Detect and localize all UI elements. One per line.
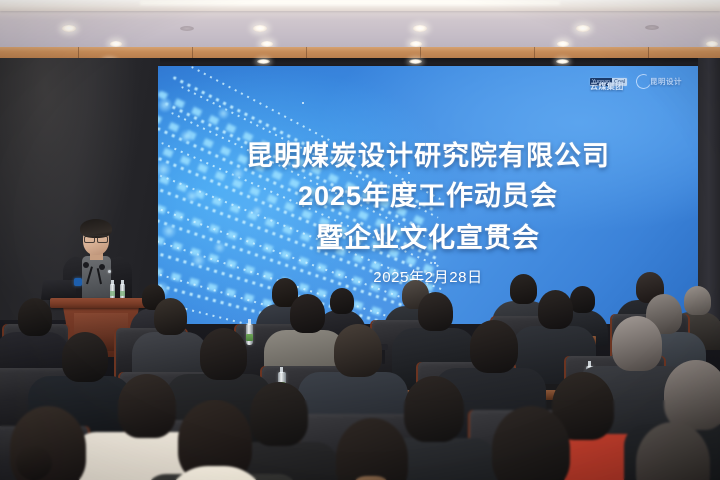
soffit-light-strip — [140, 0, 560, 5]
audience-hair — [510, 274, 537, 304]
ceiling-downlight — [257, 59, 270, 64]
audience-hair — [334, 324, 382, 377]
audience-hair — [404, 376, 464, 442]
audience-hair — [570, 286, 595, 313]
water-bottle — [246, 324, 253, 345]
audience-hair-bun — [16, 446, 52, 480]
conference-photo: Yunnan Coal 云煤集团 昆明设计 昆明煤炭设计研究院有限公司 2025… — [0, 0, 720, 480]
ceiling-downlight — [645, 25, 659, 30]
ceiling-downlight — [413, 25, 427, 32]
ceiling-downlight — [556, 59, 569, 64]
desk-microphone — [382, 348, 385, 364]
speaker-glasses — [84, 235, 108, 242]
audience-hair — [62, 332, 108, 382]
audience-hair — [418, 292, 453, 331]
audience-hair — [250, 382, 308, 446]
slide-headline-line2: 2025年度工作动员会 — [158, 174, 698, 213]
ceiling-downlight — [253, 25, 267, 32]
audience-hair — [664, 360, 720, 430]
audience-hair — [612, 316, 662, 371]
audience-hair — [330, 288, 354, 314]
seated-audience — [0, 250, 720, 480]
audience-hair-tie — [354, 476, 388, 480]
audience-hair — [684, 286, 711, 315]
ceiling-downlight — [576, 25, 590, 32]
ceiling — [0, 0, 720, 48]
audience-hair — [470, 320, 518, 373]
audience-hair — [154, 298, 187, 335]
ceiling-downlight — [62, 25, 76, 32]
audience-hair — [538, 290, 573, 329]
audience-hair — [118, 374, 176, 438]
audience-hair — [200, 328, 247, 380]
ceiling-downlight — [180, 26, 194, 31]
audience-hair — [18, 298, 52, 336]
audience-hair — [290, 294, 325, 333]
slide-headline-line1: 昆明煤炭设计研究院有限公司 — [158, 134, 698, 173]
ceiling-soffit — [0, 0, 720, 11]
ceiling-downlight — [409, 59, 422, 64]
